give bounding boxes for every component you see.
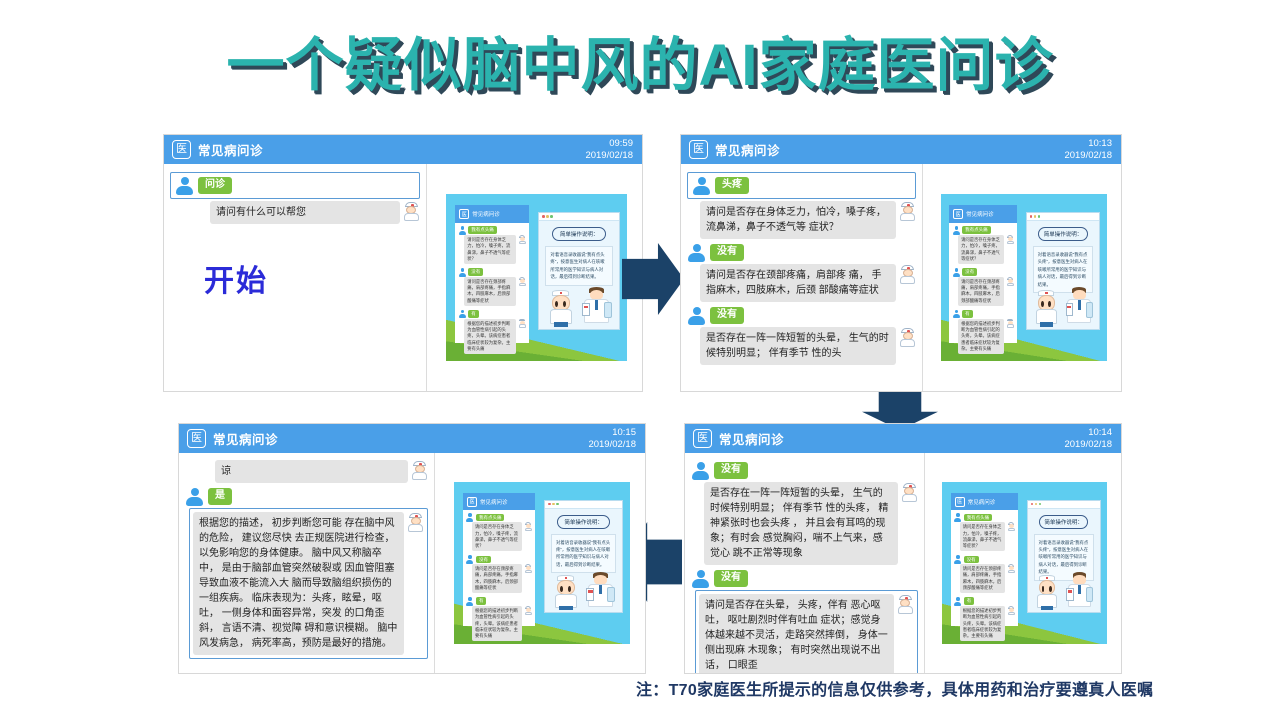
mini-doctor-avatar-icon (518, 277, 526, 286)
mini-chat-body: 我有点头痛 请问是否存在身体乏力，怕冷，嗓子疼，流鼻涕，鼻子不透气等症状？ 没有 (463, 510, 535, 644)
close-dot-icon (542, 215, 545, 218)
panel-2-chat[interactable]: 头疼 请问是否存在身体乏力，怕冷，嗓子疼，流鼻涕，鼻子不透气等 症状？ 没有 请… (681, 164, 923, 391)
mini-chat-header: 医 常见病问诊 (455, 205, 529, 223)
mini-user-tag: 有 (964, 597, 975, 604)
panel-1-app-name: 常见病问诊 (198, 140, 263, 159)
panel-3-preview-image: 医 常见病问诊 我有点头痛 请问是否存在身体乏力，怕冷，嗓子疼，流鼻涕，鼻子不透… (435, 453, 645, 673)
mini-chat-card: 医 常见病问诊 我有点头痛 请问是否存在身体乏力，怕冷，嗓子疼，流鼻涕，鼻子不透… (463, 493, 535, 626)
instruction-title: 简单操作说明： (1039, 515, 1089, 529)
nurse-illustration (547, 290, 574, 326)
medical-logo-icon: 医 (172, 140, 191, 159)
mini-chat-body: 我有点头痛 请问是否存在身体乏力，怕冷，嗓子疼，流鼻涕，鼻子不透气等症状？ 没有 (949, 223, 1017, 361)
panel-4-body: 没有 是否存在一阵一阵短暂的头晕， 生气的时候特别明显； 伴有季节 性的头疼， … (685, 453, 1121, 673)
panel-3-body: 谅 是 根据您的描述， 初步判断您可能 存在脑中风的危险， 建议您尽快 去正规医… (179, 453, 645, 673)
panel-2-preview-image: 医 常见病问诊 我有点头痛 请问是否存在身体乏力，怕冷，嗓子疼，流鼻涕，鼻子不透… (923, 164, 1121, 391)
mini-user-tag: 没有 (468, 268, 483, 275)
user-message-tag: 没有 (710, 307, 744, 324)
doctor-illustration (1065, 287, 1094, 326)
mini-instruction-window: 简单操作说明： 对着语音录收器说“我有点头疼”，按意医生对病人在咳嗽所常用的医学… (544, 500, 623, 614)
mini-user-row: 我有点头痛 (952, 226, 1014, 234)
mini-chat-header: 医 常见病问诊 (951, 493, 1019, 510)
start-label: 开始 (204, 256, 268, 300)
user-message-tag: 是 (208, 488, 232, 505)
mini-doctor-avatar-icon (1007, 522, 1015, 531)
mini-user-avatar-icon (458, 268, 466, 276)
bot-message-bubble: 请问是否存在身体乏力，怕冷，嗓子疼，流鼻涕，鼻子不透气等 症状？ (700, 201, 896, 239)
maximize-dot-icon (550, 215, 553, 218)
panel-2-body: 头疼 请问是否存在身体乏力，怕冷，嗓子疼，流鼻涕，鼻子不透气等 症状？ 没有 请… (681, 164, 1121, 391)
mini-instruction-window: 简单操作说明： 对着语音录收器说“我有点头疼”，按意医生对病人在咳嗽所常用的医学… (1026, 212, 1101, 330)
medical-logo-icon: 医 (187, 429, 206, 448)
chat-user-row[interactable]: 头疼 (687, 172, 916, 199)
chat-bot-row: 是否存在一阵一阵短暂的头晕， 生气的时候特别明显； 伴有季节 性的头 (700, 327, 916, 365)
mini-doctor-avatar-icon (1006, 277, 1014, 286)
mini-screenshot: 医 常见病问诊 我有点头痛 请问是否存在身体乏力，怕冷，嗓子疼，流鼻涕，鼻子不透… (446, 194, 627, 362)
nurse-illustration (1035, 575, 1060, 610)
user-avatar-icon (175, 176, 194, 195)
maximize-dot-icon (1039, 503, 1042, 506)
doctor-avatar-icon (899, 202, 916, 221)
mini-bot-bubble: 根据您的描述初步判断为血管性病引起的头疼，头晕。该病症患者临床症状较为复杂。主要… (464, 319, 516, 354)
minimize-dot-icon (1035, 503, 1038, 506)
panel-2-time: 10:13 (1064, 138, 1112, 150)
mini-doctor-avatar-icon (1006, 319, 1014, 328)
mini-chat-body: 我有点头痛 请问是否存在身体乏力，怕冷，嗓子疼，流鼻涕，鼻子不透气等症状？ 没有 (951, 510, 1019, 644)
doctor-avatar-icon (899, 265, 916, 284)
mini-user-row: 没有 (954, 555, 1016, 563)
mini-bot-bubble: 请问是否存在颈部疼痛，肩部疼痛，手指麻木，四肢麻木，后颈部酸痛等症状 (960, 564, 1006, 593)
user-avatar-icon (692, 176, 711, 195)
mini-user-row: 有 (954, 597, 1016, 605)
mini-bot-bubble: 请问是否存在颈部疼痛，肩部疼痛，手指麻木，四肢麻木，后颈部酸痛等症状 (472, 564, 522, 593)
mini-user-row: 有 (952, 310, 1014, 318)
panel-4-time: 10:14 (1064, 427, 1112, 439)
mini-bot-row: 根据您的描述初步判断为血管性病引起的头疼，头晕。该病症患者临床症状较为复杂。主要… (472, 606, 532, 641)
doctor-illustration (585, 572, 616, 610)
mini-bot-bubble: 请问是否存在身体乏力，怕冷，嗓子疼，流鼻涕，鼻子不透气等症状？ (960, 522, 1006, 551)
panel-2-date: 2019/02/18 (1064, 150, 1112, 162)
chat-user-row[interactable]: 是 (185, 487, 428, 506)
nurse-illustration (1034, 290, 1059, 326)
mini-bot-bubble: 请问是否存在身体乏力，怕冷，嗓子疼，流鼻涕，鼻子不透气等症状？ (464, 235, 516, 264)
mini-user-tag: 我有点头痛 (964, 514, 993, 521)
mini-bot-row: 请问是否存在身体乏力，怕冷，嗓子疼，流鼻涕，鼻子不透气等症状？ (464, 235, 526, 264)
mini-user-tag: 有 (962, 310, 973, 317)
mini-user-tag: 有 (476, 597, 487, 604)
panel-4-chat[interactable]: 没有 是否存在一阵一阵短暂的头晕， 生气的时候特别明显； 伴有季节 性的头疼， … (685, 453, 925, 673)
user-avatar-icon (691, 461, 710, 480)
mini-chat-card: 医 常见病问诊 我有点头痛 请问是否存在身体乏力，怕冷，嗓子疼，流鼻涕，鼻子不透… (951, 493, 1019, 626)
chat-user-row[interactable]: 没有 (687, 306, 916, 325)
mini-bot-bubble: 请问是否存在身体乏力，怕冷，嗓子疼，流鼻涕，鼻子不透气等症状？ (472, 522, 522, 551)
mini-bot-row: 根据您的描述初步判断为血管性病引起的头疼，头晕。该病症患者临床症状较为复杂。主要… (958, 319, 1014, 354)
panel-1-body: 问诊 请问有什么可以帮您 开始 医 常见病问诊 (164, 164, 642, 391)
maximize-dot-icon (1038, 215, 1041, 218)
bot-message-bubble: 请问是否存在头晕， 头疼，伴有 恶心呕吐， 呕吐剧烈时伴有吐血 症状；感觉身体越… (699, 594, 894, 673)
doctor-illustrations (545, 572, 622, 610)
doctor-avatar-icon (899, 328, 916, 347)
mini-user-avatar-icon (954, 555, 962, 563)
panel-1-preview-image: 医 常见病问诊 我有点头痛 请问是否存在身体乏力，怕冷，嗓子疼，流鼻涕，鼻子不透… (427, 164, 642, 391)
mini-bot-row: 请问是否存在颈部疼痛，肩部疼痛，手指麻木，四肢麻木，后颈部酸痛等症状 (960, 564, 1016, 593)
mini-user-row: 没有 (466, 555, 532, 563)
mini-user-row: 有 (458, 310, 526, 318)
panel-4-clock: 10:14 2019/02/18 (1064, 427, 1112, 450)
window-titlebar (1028, 501, 1100, 509)
doctor-avatar-icon (897, 595, 914, 614)
mini-screenshot: 医 常见病问诊 我有点头痛 请问是否存在身体乏力，怕冷，嗓子疼，流鼻涕，鼻子不透… (941, 194, 1107, 362)
mini-chat-card: 医 常见病问诊 我有点头痛 请问是否存在身体乏力，怕冷，嗓子疼，流鼻涕，鼻子不透… (949, 205, 1017, 343)
mini-user-row: 没有 (458, 268, 526, 276)
instruction-title: 简单操作说明： (1038, 227, 1088, 241)
page-title: 一个疑似脑中风的AI家庭医问诊 (0, 18, 1280, 102)
panel-1-header: 医 常见病问诊 09:59 2019/02/18 (164, 135, 642, 164)
panel-1: 医 常见病问诊 09:59 2019/02/18 问诊 请问有什么可以帮您 开始 (163, 134, 643, 392)
chat-bot-row-partial: 谅 (215, 460, 428, 483)
window-titlebar (545, 501, 622, 509)
mini-doctor-avatar-icon (518, 319, 526, 328)
mini-medical-logo-icon: 医 (467, 497, 477, 507)
window-titlebar (1027, 213, 1100, 221)
mini-bot-row: 请问是否存在颈部疼痛，肩部疼痛，手指麻木，四肢麻木，后颈部酸痛等症状 (958, 277, 1014, 306)
mini-user-avatar-icon (466, 597, 474, 605)
mini-bot-bubble: 根据您的描述初步判断为血管性病引起的头疼，头晕。该病症患者临床症状较为复杂。主要… (958, 319, 1004, 354)
slide-root: 一个疑似脑中风的AI家庭医问诊 医 常见病问诊 09:59 2019/02/18… (0, 0, 1280, 720)
mini-user-tag: 我有点头痛 (468, 226, 497, 233)
mini-user-avatar-icon (952, 310, 960, 318)
instruction-title: 简单操作说明： (552, 227, 606, 241)
close-dot-icon (1030, 215, 1033, 218)
mini-user-tag: 我有点头痛 (476, 514, 505, 521)
mini-doctor-avatar-icon (524, 564, 532, 573)
mini-user-row: 我有点头痛 (954, 513, 1016, 521)
mini-bot-row: 请问是否存在颈部疼痛，肩部疼痛，手指麻木，四肢麻木，后颈部酸痛等症状 (464, 277, 526, 306)
mini-user-row: 我有点头痛 (466, 513, 532, 521)
chat-bot-row: 请问是否存在颈部疼痛，肩部疼 痛， 手指麻木，四肢麻木，后颈 部酸痛等症状 (700, 264, 916, 302)
panel-2: 医 常见病问诊 10:13 2019/02/18 头疼 请问是否存在身体乏力，怕… (680, 134, 1122, 392)
doctor-illustrations (1028, 572, 1100, 610)
mini-instruction-window: 简单操作说明： 对着语音录收器说“我有点头疼”，按意医生对病人在咳嗽所常用的医学… (538, 212, 619, 330)
mini-user-tag: 我有点头痛 (962, 226, 991, 233)
user-message-tag: 没有 (714, 462, 748, 479)
mini-user-avatar-icon (952, 226, 960, 234)
panel-2-app-name: 常见病问诊 (715, 140, 780, 159)
panel-3-header: 医 常见病问诊 10:15 2019/02/18 (179, 424, 645, 453)
instruction-body: 对着语音录收器说“我有点头疼”，按意医生对病人在咳嗽所常用的医学知识与病人对话，… (551, 534, 616, 574)
mini-medical-logo-icon: 医 (955, 497, 965, 507)
instruction-title: 简单操作说明： (557, 515, 610, 529)
mini-chat-header: 医 常见病问诊 (463, 493, 535, 510)
mini-bot-bubble: 请问是否存在身体乏力，怕冷，嗓子疼，流鼻涕，鼻子不透气等症状？ (958, 235, 1004, 264)
mini-user-tag: 没有 (962, 268, 977, 275)
chat-user-row[interactable]: 问诊 (170, 172, 420, 199)
panel-3-chat[interactable]: 谅 是 根据您的描述， 初步判断您可能 存在脑中风的危险， 建议您尽快 去正规医… (179, 453, 435, 673)
chat-user-row[interactable]: 没有 (687, 243, 916, 262)
doctor-illustration (581, 287, 613, 326)
bot-message-bubble: 是否存在一阵一阵短暂的头晕， 生气的时候特别明显； 伴有季节 性的头 (700, 327, 896, 365)
chat-user-row[interactable]: 没有 (691, 461, 918, 480)
mini-user-avatar-icon (466, 555, 474, 563)
mini-doctor-avatar-icon (1007, 606, 1015, 615)
panel-1-date: 2019/02/18 (585, 150, 633, 162)
user-message-tag: 没有 (714, 570, 748, 587)
panel-1-time: 09:59 (585, 138, 633, 150)
window-titlebar (539, 213, 618, 221)
minimize-dot-icon (546, 215, 549, 218)
mini-chat-card: 医 常见病问诊 我有点头痛 请问是否存在身体乏力，怕冷，嗓子疼，流鼻涕，鼻子不透… (455, 205, 529, 343)
doctor-illustrations (539, 287, 618, 326)
panel-4-preview-image: 医 常见病问诊 我有点头痛 请问是否存在身体乏力，怕冷，嗓子疼，流鼻涕，鼻子不透… (925, 453, 1121, 673)
mini-user-avatar-icon (954, 597, 962, 605)
chat-bot-row: 请问有什么可以帮您 (210, 201, 420, 224)
maximize-dot-icon (556, 503, 559, 506)
mini-screenshot: 医 常见病问诊 我有点头痛 请问是否存在身体乏力，怕冷，嗓子疼，流鼻涕，鼻子不透… (454, 482, 630, 645)
bot-diagnosis-bubble: 根据您的描述， 初步判断您可能 存在脑中风的危险， 建议您尽快 去正规医院进行检… (193, 512, 404, 655)
mini-bot-row: 请问是否存在身体乏力，怕冷，嗓子疼，流鼻涕，鼻子不透气等症状？ (960, 522, 1016, 551)
mini-bot-bubble: 请问是否存在颈部疼痛，肩部疼痛，手指麻木，四肢麻木，后颈部酸痛等症状 (958, 277, 1004, 306)
mini-app-name: 常见病问诊 (480, 498, 508, 506)
mini-bot-row: 请问是否存在颈部疼痛，肩部疼痛，手指麻木，四肢麻木，后颈部酸痛等症状 (472, 564, 532, 593)
mini-instruction-window: 简单操作说明： 对着语音录收器说“我有点头疼”，按意医生对病人在咳嗽所常用的医学… (1027, 500, 1101, 614)
user-avatar-icon (687, 243, 706, 262)
doctor-illustration (1065, 572, 1094, 610)
mini-user-tag: 有 (468, 310, 479, 317)
panel-2-clock: 10:13 2019/02/18 (1064, 138, 1112, 161)
bot-message-bubble: 请问有什么可以帮您 (210, 201, 400, 224)
mini-user-tag: 没有 (964, 556, 979, 563)
panel-4-app-name: 常见病问诊 (719, 429, 784, 448)
user-avatar-icon (691, 569, 710, 588)
panel-3-date: 2019/02/18 (588, 439, 636, 451)
mini-user-row: 有 (466, 597, 532, 605)
mini-user-avatar-icon (458, 226, 466, 234)
nurse-illustration (553, 575, 579, 610)
mini-doctor-avatar-icon (524, 522, 532, 531)
mini-doctor-avatar-icon (518, 235, 526, 244)
mini-app-name: 常见病问诊 (472, 210, 500, 218)
bot-message-bubble: 谅 (215, 460, 408, 483)
mini-chat-header: 医 常见病问诊 (949, 205, 1017, 223)
doctor-avatar-icon (901, 483, 918, 502)
bot-message-bubble: 是否存在一阵一阵短暂的头晕， 生气的时候特别明显； 伴有季节 性的头疼， 精神紧… (704, 482, 898, 565)
user-message-tag: 头疼 (715, 177, 749, 194)
mini-user-avatar-icon (458, 310, 466, 318)
mini-bot-bubble: 根据您的描述初步判断为血管性病引起的头疼，头晕。该病症患者临床症状较为复杂。主要… (960, 606, 1006, 641)
close-dot-icon (1031, 503, 1034, 506)
panel-1-clock: 09:59 2019/02/18 (585, 138, 633, 161)
panel-3-clock: 10:15 2019/02/18 (588, 427, 636, 450)
panel-1-chat[interactable]: 问诊 请问有什么可以帮您 开始 (164, 164, 427, 391)
user-message-tag: 没有 (710, 244, 744, 261)
panel-4-header: 医 常见病问诊 10:14 2019/02/18 (685, 424, 1121, 453)
chat-bot-row-highlighted: 请问是否存在头晕， 头疼，伴有 恶心呕吐， 呕吐剧烈时伴有吐血 症状；感觉身体越… (695, 590, 918, 673)
instruction-body: 对着语音录收器说“我有点头疼”，按意医生对病人在咳嗽所常用的医学知识与病人对话，… (545, 246, 612, 286)
panel-3: 医 常见病问诊 10:15 2019/02/18 谅 是 根据您的描述， 初步判… (178, 423, 646, 674)
doctor-avatar-icon (407, 513, 424, 532)
panel-3-app-name: 常见病问诊 (213, 429, 278, 448)
chat-user-row[interactable]: 没有 (691, 569, 918, 588)
doctor-avatar-icon (403, 202, 420, 221)
mini-screenshot: 医 常见病问诊 我有点头痛 请问是否存在身体乏力，怕冷，嗓子疼，流鼻涕，鼻子不透… (942, 482, 1107, 645)
footnote-disclaimer: 注：T70家庭医生所提示的信息仅供参考，具体用药和治疗要遵真人医嘱 (636, 676, 1153, 700)
panel-4: 医 常见病问诊 10:14 2019/02/18 没有 是否存在一阵一阵短暂的头… (684, 423, 1122, 674)
minimize-dot-icon (1034, 215, 1037, 218)
panel-4-date: 2019/02/18 (1064, 439, 1112, 451)
mini-bot-row: 根据您的描述初步判断为血管性病引起的头疼，头晕。该病症患者临床症状较为复杂。主要… (464, 319, 526, 354)
panel-3-time: 10:15 (588, 427, 636, 439)
mini-chat-body: 我有点头痛 请问是否存在身体乏力，怕冷，嗓子疼，流鼻涕，鼻子不透气等症状？ 没有 (455, 223, 529, 361)
instruction-body: 对着语音录收器说“我有点头疼”，按意医生对病人在咳嗽所常用的医学知识与病人对话，… (1033, 246, 1094, 293)
mini-doctor-avatar-icon (1007, 564, 1015, 573)
mini-medical-logo-icon: 医 (459, 209, 469, 219)
doctor-avatar-icon (411, 461, 428, 480)
mini-user-avatar-icon (954, 513, 962, 521)
medical-logo-icon: 医 (689, 140, 708, 159)
mini-user-row: 没有 (952, 268, 1014, 276)
chat-bot-row-highlighted: 根据您的描述， 初步判断您可能 存在脑中风的危险， 建议您尽快 去正规医院进行检… (189, 508, 428, 659)
doctor-illustrations (1027, 287, 1100, 326)
mini-doctor-avatar-icon (524, 606, 532, 615)
user-avatar-icon (687, 306, 706, 325)
mini-user-row: 我有点头痛 (458, 226, 526, 234)
panel-2-header: 医 常见病问诊 10:13 2019/02/18 (681, 135, 1121, 164)
user-message-tag: 问诊 (198, 177, 232, 194)
chat-bot-row: 是否存在一阵一阵短暂的头晕， 生气的时候特别明显； 伴有季节 性的头疼， 精神紧… (704, 482, 918, 565)
medical-logo-icon: 医 (693, 429, 712, 448)
mini-user-tag: 没有 (476, 556, 491, 563)
chat-bot-row: 请问是否存在身体乏力，怕冷，嗓子疼，流鼻涕，鼻子不透气等 症状？ (700, 201, 916, 239)
mini-user-avatar-icon (952, 268, 960, 276)
mini-bot-bubble: 请问是否存在颈部疼痛，肩部疼痛，手指麻木，四肢麻木，后颈部酸痛等症状 (464, 277, 516, 306)
mini-bot-bubble: 根据您的描述初步判断为血管性病引起的头疼，头晕。该病症患者临床症状较为复杂。主要… (472, 606, 522, 641)
mini-medical-logo-icon: 医 (953, 209, 963, 219)
mini-app-name: 常见病问诊 (966, 210, 994, 218)
minimize-dot-icon (552, 503, 555, 506)
bot-message-bubble: 请问是否存在颈部疼痛，肩部疼 痛， 手指麻木，四肢麻木，后颈 部酸痛等症状 (700, 264, 896, 302)
mini-bot-row: 请问是否存在身体乏力，怕冷，嗓子疼，流鼻涕，鼻子不透气等症状？ (472, 522, 532, 551)
close-dot-icon (548, 503, 551, 506)
mini-app-name: 常见病问诊 (968, 498, 996, 506)
mini-doctor-avatar-icon (1006, 235, 1014, 244)
mini-bot-row: 请问是否存在身体乏力，怕冷，嗓子疼，流鼻涕，鼻子不透气等症状？ (958, 235, 1014, 264)
mini-bot-row: 根据您的描述初步判断为血管性病引起的头疼，头晕。该病症患者临床症状较为复杂。主要… (960, 606, 1016, 641)
user-avatar-icon (185, 487, 204, 506)
mini-user-avatar-icon (466, 513, 474, 521)
